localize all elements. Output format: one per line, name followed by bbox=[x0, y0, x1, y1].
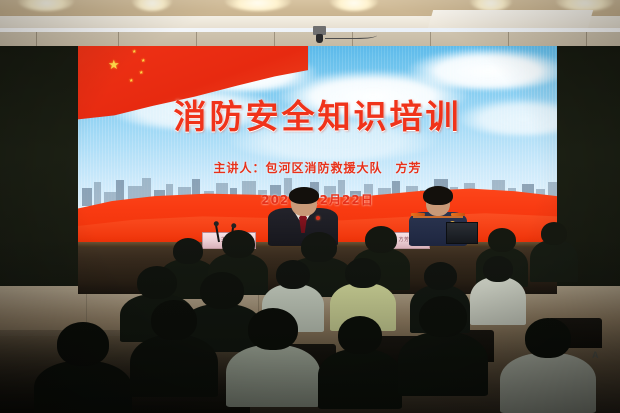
audience-member-r3-2 bbox=[130, 300, 218, 402]
audience-head bbox=[365, 226, 397, 253]
audience-member-r3-5 bbox=[398, 296, 488, 401]
audience-head bbox=[424, 262, 457, 290]
audience-head bbox=[57, 322, 109, 366]
slide-subtitle: 主讲人：包河区消防救援大队 方芳 bbox=[78, 159, 557, 176]
audience-body bbox=[34, 361, 132, 413]
audience-member-r3-3 bbox=[226, 308, 320, 412]
audience-head bbox=[419, 296, 467, 337]
flag-star-1: ★ bbox=[108, 58, 120, 71]
audience-head bbox=[151, 300, 197, 340]
audience-head bbox=[137, 266, 177, 299]
flag-star-4: ★ bbox=[139, 71, 143, 76]
audience-body bbox=[226, 345, 320, 407]
officer-laptop bbox=[446, 222, 478, 244]
officer-hair bbox=[423, 186, 453, 205]
slide-title: 消防安全知识培训 bbox=[78, 90, 557, 138]
audience-member-r3-6 bbox=[500, 318, 596, 413]
camera-cable bbox=[325, 30, 377, 39]
audience-member-r1-4 bbox=[530, 222, 578, 287]
audience-head bbox=[541, 222, 567, 245]
flag-star-2: ★ bbox=[132, 50, 136, 55]
audience-head bbox=[345, 258, 381, 288]
audience-head bbox=[525, 318, 571, 358]
audience-member-r3-1 bbox=[34, 322, 132, 413]
officer-epaulette-left bbox=[411, 213, 425, 216]
audience-head bbox=[483, 256, 513, 282]
audience-body bbox=[500, 353, 596, 413]
audience-body bbox=[530, 240, 578, 282]
officer-epaulette-right bbox=[451, 213, 465, 216]
audience-head bbox=[173, 238, 203, 264]
flag-star-5: ★ bbox=[129, 79, 133, 84]
audience-body bbox=[318, 349, 402, 409]
left-dark-wall-panel bbox=[0, 46, 78, 286]
host-lapel-pin bbox=[316, 216, 320, 220]
audience-head bbox=[338, 316, 382, 354]
lecture-hall-photo: ★★★★★ 消防安全知识培训 主讲人：包河区消防救援大队 方芳 202?年12月… bbox=[0, 0, 620, 413]
surveillance-camera-icon bbox=[313, 26, 326, 35]
host-hair bbox=[289, 187, 319, 204]
audience-head bbox=[488, 228, 516, 252]
audience-body bbox=[398, 332, 488, 396]
audience-body bbox=[130, 335, 218, 397]
audience-head bbox=[248, 308, 298, 350]
audience-member-r3-4 bbox=[318, 316, 402, 413]
officer-uniform-trim bbox=[413, 216, 463, 218]
audience-head bbox=[276, 260, 310, 289]
audience-head bbox=[222, 230, 255, 258]
flag-star-3: ★ bbox=[141, 59, 145, 64]
